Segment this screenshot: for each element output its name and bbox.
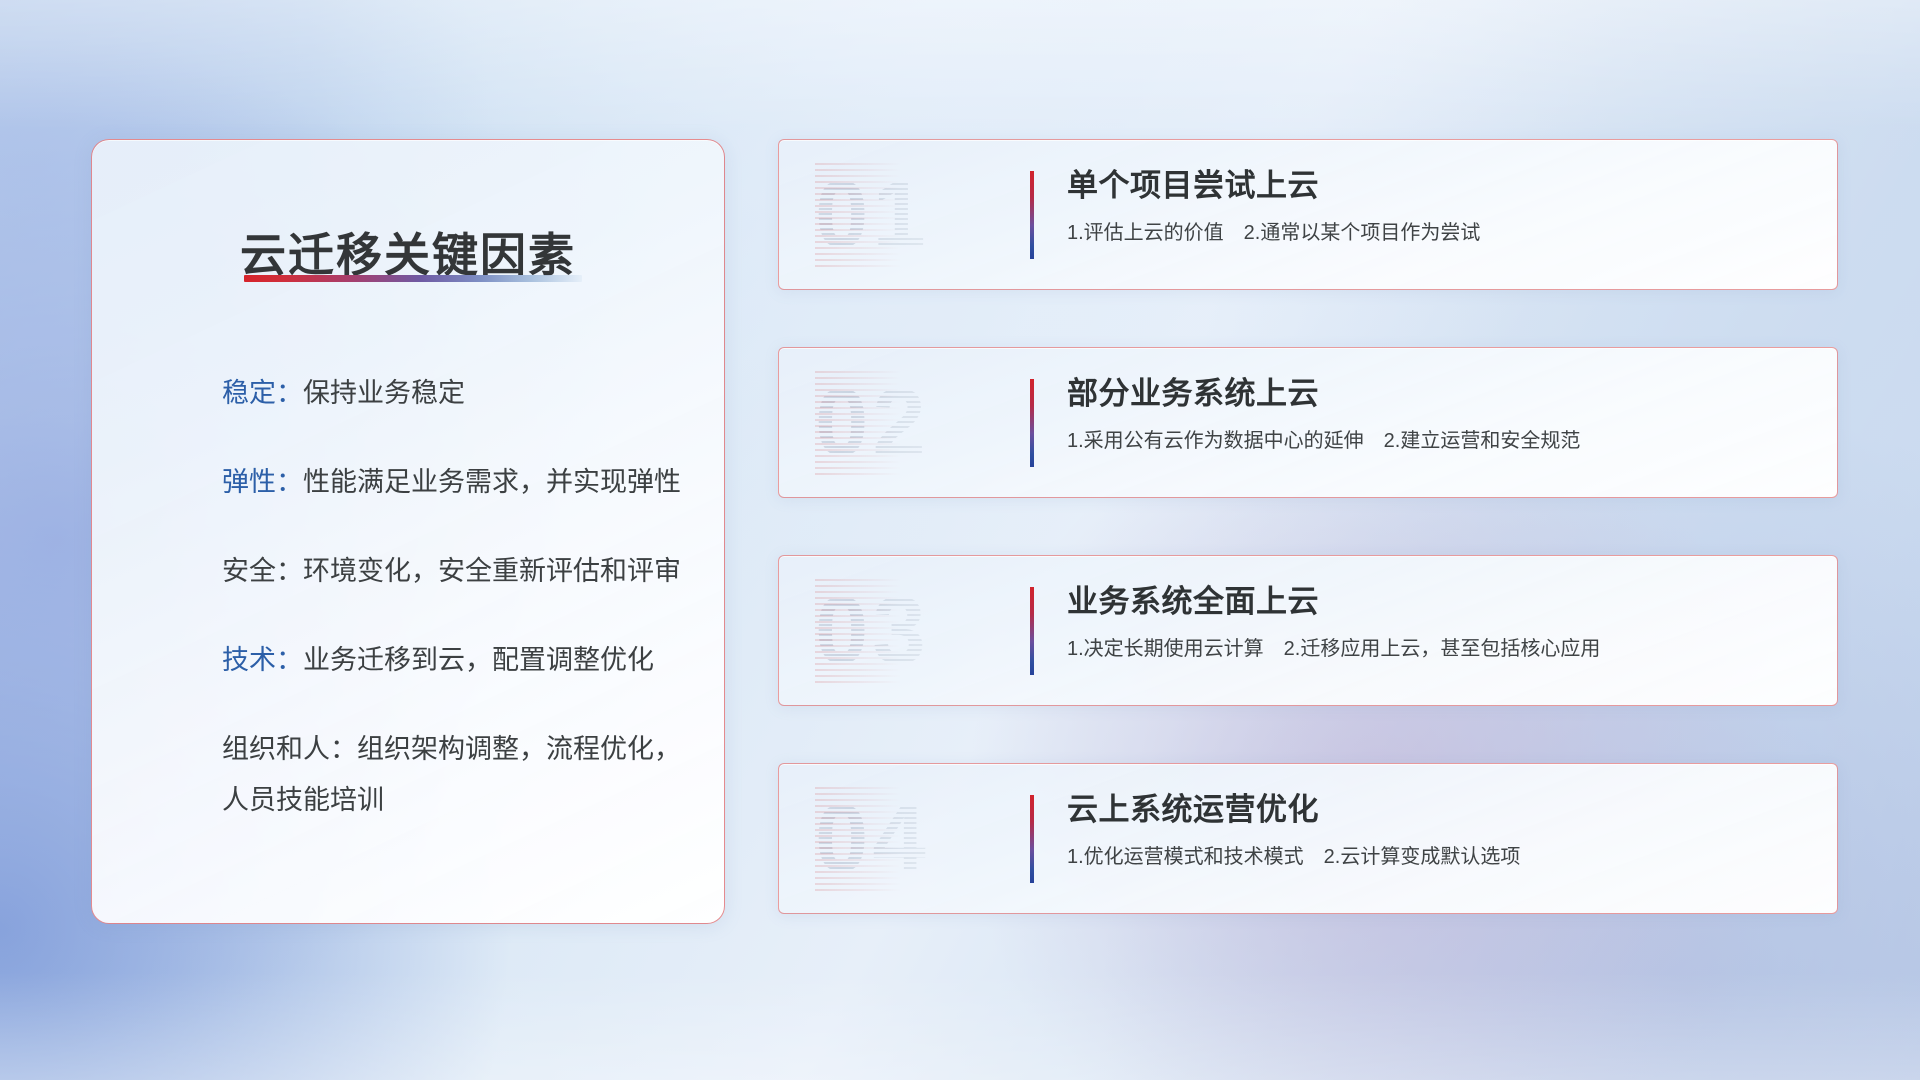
card-content: 业务系统全面上云 1.决定长期使用云计算 2.迁移应用上云，甚至包括核心应用 bbox=[1067, 584, 1815, 662]
factor-label: 安全： bbox=[222, 556, 303, 586]
card-description: 1.优化运营模式和技术模式 2.云计算变成默认选项 bbox=[1067, 845, 1815, 870]
stage-card-04[interactable]: 04 云上系统运营优化 1.优化运营模式和技术模式 2.云计算变成默认选项 bbox=[778, 763, 1838, 914]
factor-item-security: 安全：环境变化，安全重新评估和评审 bbox=[222, 558, 700, 585]
card-divider-bar bbox=[1030, 587, 1034, 675]
factor-label: 弹性： bbox=[222, 467, 303, 497]
factor-text: 性能满足业务需求，并实现弹性 bbox=[303, 467, 681, 497]
card-divider-bar bbox=[1030, 171, 1034, 259]
card-title: 云上系统运营优化 bbox=[1067, 792, 1815, 828]
factor-text: 组织架构调整，流程优化， bbox=[357, 734, 681, 764]
card-divider-bar bbox=[1030, 795, 1034, 883]
factor-item-organization: 组织和人：组织架构调整，流程优化， bbox=[222, 736, 700, 763]
card-description: 1.评估上云的价值 2.通常以某个项目作为尝试 bbox=[1067, 221, 1815, 246]
stage-number-red-tint bbox=[815, 579, 1005, 683]
factor-text: 业务迁移到云，配置调整优化 bbox=[303, 645, 654, 675]
stage-number-ghost-02: 02 bbox=[815, 371, 1005, 475]
card-content: 单个项目尝试上云 1.评估上云的价值 2.通常以某个项目作为尝试 bbox=[1067, 168, 1815, 246]
stage-number-red-tint bbox=[815, 163, 1005, 267]
card-content: 部分业务系统上云 1.采用公有云作为数据中心的延伸 2.建立运营和安全规范 bbox=[1067, 376, 1815, 454]
stage-number-red-tint bbox=[815, 371, 1005, 475]
factor-label: 组织和人： bbox=[222, 734, 357, 764]
migration-stage-cards: 01 单个项目尝试上云 1.评估上云的价值 2.通常以某个项目作为尝试 02 部… bbox=[778, 139, 1838, 914]
card-content: 云上系统运营优化 1.优化运营模式和技术模式 2.云计算变成默认选项 bbox=[1067, 792, 1815, 870]
card-description: 1.采用公有云作为数据中心的延伸 2.建立运营和安全规范 bbox=[1067, 429, 1815, 454]
stage-number-ghost-03: 03 bbox=[815, 579, 1005, 683]
title-underline-rule bbox=[244, 275, 582, 282]
stage-card-02[interactable]: 02 部分业务系统上云 1.采用公有云作为数据中心的延伸 2.建立运营和安全规范 bbox=[778, 347, 1838, 498]
card-title: 单个项目尝试上云 bbox=[1067, 168, 1815, 204]
card-title: 业务系统全面上云 bbox=[1067, 584, 1815, 620]
factor-text: 保持业务稳定 bbox=[303, 378, 465, 408]
factor-item-technology: 技术：业务迁移到云，配置调整优化 bbox=[222, 647, 700, 674]
stage-number-ghost-04: 04 bbox=[815, 787, 1005, 891]
card-divider-bar bbox=[1030, 379, 1034, 467]
factor-text: 环境变化，安全重新评估和评审 bbox=[303, 556, 681, 586]
stage-number-red-tint bbox=[815, 787, 1005, 891]
stage-card-03[interactable]: 03 业务系统全面上云 1.决定长期使用云计算 2.迁移应用上云，甚至包括核心应… bbox=[778, 555, 1838, 706]
factor-item-stability: 稳定：保持业务稳定 bbox=[222, 380, 700, 407]
factor-label: 技术： bbox=[222, 645, 303, 675]
factor-list: 稳定：保持业务稳定 弹性：性能满足业务需求，并实现弹性 安全：环境变化，安全重新… bbox=[222, 380, 700, 876]
key-factors-panel: 云迁移关键因素 稳定：保持业务稳定 弹性：性能满足业务需求，并实现弹性 安全：环… bbox=[91, 139, 725, 924]
factor-label: 稳定： bbox=[222, 378, 303, 408]
stage-number-ghost-01: 01 bbox=[815, 163, 1005, 267]
factor-item-elasticity: 弹性：性能满足业务需求，并实现弹性 bbox=[222, 469, 700, 496]
card-title: 部分业务系统上云 bbox=[1067, 376, 1815, 412]
card-description: 1.决定长期使用云计算 2.迁移应用上云，甚至包括核心应用 bbox=[1067, 637, 1815, 662]
factor-item-organization-continued: 人员技能培训 bbox=[222, 787, 700, 814]
stage-card-01[interactable]: 01 单个项目尝试上云 1.评估上云的价值 2.通常以某个项目作为尝试 bbox=[778, 139, 1838, 290]
